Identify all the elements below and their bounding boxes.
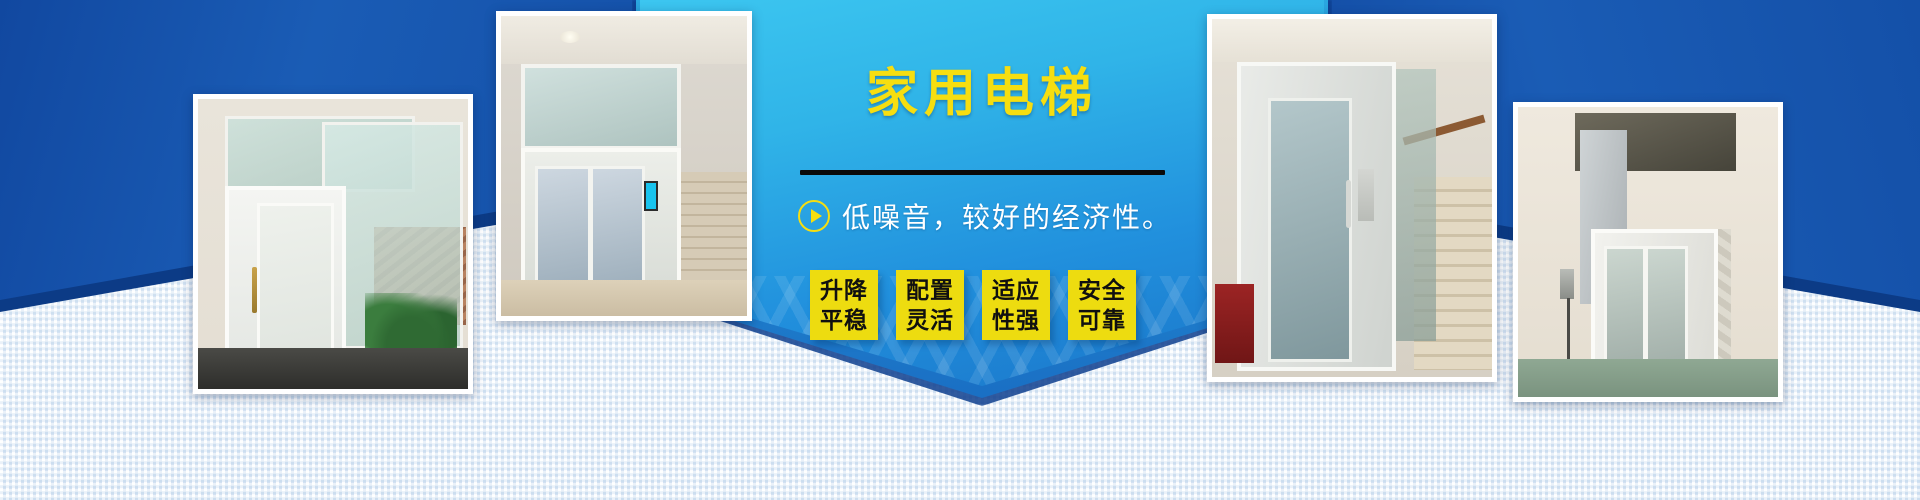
home-elevator-glass-shaft-with-plant: [198, 99, 468, 389]
ceiling-detail: [501, 16, 747, 64]
title-divider: [800, 170, 1165, 175]
ceiling-light-detail: [560, 31, 580, 43]
red-sofa-detail: [1215, 284, 1254, 363]
elevator-right-door-detail: [590, 166, 645, 286]
feature-tag-line1: 配置: [906, 275, 954, 305]
feature-tag-line1: 适应: [992, 275, 1040, 305]
floor-detail: [501, 280, 747, 316]
feature-tag-line1: 安全: [1078, 275, 1126, 305]
staircase-detail: [673, 172, 747, 292]
arrow-triangle-icon: [811, 209, 822, 223]
feature-tag-line2: 灵活: [906, 305, 954, 335]
elevator-left-door-detail: [535, 166, 590, 286]
ceiling-detail: [1212, 19, 1492, 62]
circle-play-arrow-icon: [798, 200, 830, 232]
product-photo-card: [1513, 102, 1783, 402]
brass-door-handle-detail: [252, 267, 257, 313]
control-panel-detail: [1358, 169, 1374, 221]
floor-detail: [198, 348, 468, 389]
feature-tag[interactable]: 升降 平稳: [810, 270, 878, 340]
feature-tag-line2: 性强: [992, 305, 1040, 335]
home-elevator-glass-cabin-marble-stairs: [1212, 19, 1492, 377]
feature-tag[interactable]: 配置 灵活: [896, 270, 964, 340]
subtitle-row: 低噪音，较好的经济性。: [798, 196, 1172, 236]
banner-subtitle: 低噪音，较好的经济性。: [842, 196, 1172, 236]
product-photo-card: [1207, 14, 1497, 382]
feature-tag-line1: 升降: [820, 275, 868, 305]
home-elevator-banner: 家用电梯 低噪音，较好的经济性。 升降 平稳 配置 灵活 适应 性强 安全: [0, 0, 1920, 500]
door-handle-detail: [1346, 180, 1351, 228]
product-photo-card: [496, 11, 752, 321]
floor-detail: [1518, 359, 1778, 397]
wall-control-box-detail: [1560, 269, 1574, 299]
home-elevator-installation-in-progress: [1518, 107, 1778, 397]
feature-tag[interactable]: 安全 可靠: [1068, 270, 1136, 340]
elevator-door-detail: [257, 203, 333, 371]
feature-tag-list: 升降 平稳 配置 灵活 适应 性强 安全 可靠: [810, 270, 1136, 340]
feature-tag-line2: 平稳: [820, 305, 868, 335]
glass-shaft-detail: [521, 64, 682, 150]
product-photo-card: [193, 94, 473, 394]
feature-tag[interactable]: 适应 性强: [982, 270, 1050, 340]
elevator-glass-door-detail: [1268, 98, 1352, 362]
home-elevator-beside-staircase: [501, 16, 747, 316]
feature-tag-line2: 可靠: [1078, 305, 1126, 335]
hanging-cable-detail: [1567, 298, 1570, 368]
control-panel-detail: [644, 181, 658, 211]
